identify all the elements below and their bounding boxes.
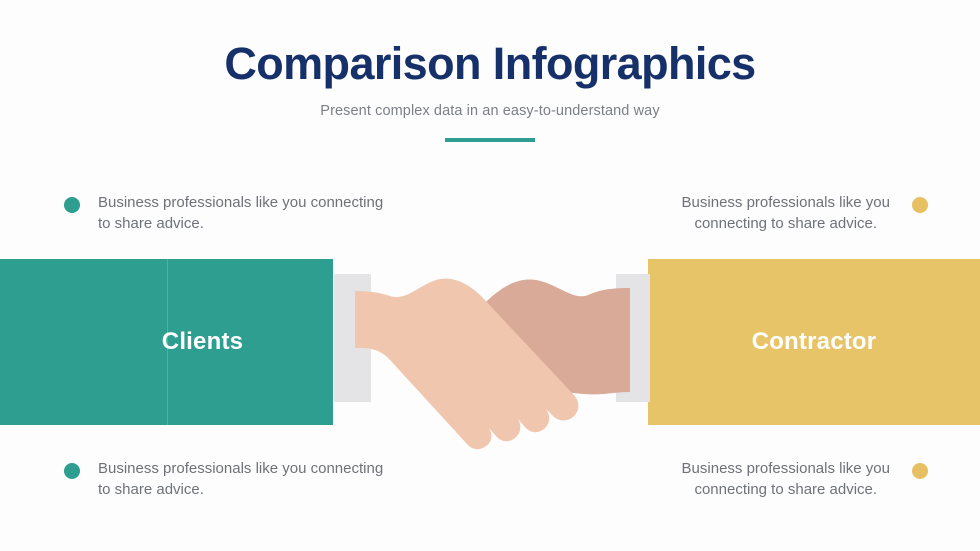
page-subtitle: Present complex data in an easy-to-under… xyxy=(0,101,980,121)
callout-text-bottom-right: Business professionals like you connecti… xyxy=(682,458,890,500)
comparison-label-left: Clients xyxy=(162,328,243,356)
callout-text-bottom-left: Business professionals like you connecti… xyxy=(98,458,383,500)
callout-bottom-left: Business professionals like you connecti… xyxy=(64,458,404,500)
comparison-bar-right[interactable]: Contractor xyxy=(648,259,980,425)
callout-bottom-right: Business professionals like you connecti… xyxy=(588,458,928,500)
comparison-bar-left[interactable]: Clients xyxy=(0,259,333,425)
page-title: Comparison Infographics xyxy=(0,38,980,90)
slide-header: Comparison Infographics Present complex … xyxy=(0,38,980,142)
callout-text-top-right: Business professionals like you connecti… xyxy=(682,192,890,234)
accent-rule-divider xyxy=(445,138,535,142)
bullet-dot-icon xyxy=(912,197,928,213)
comparison-label-right: Contractor xyxy=(752,328,877,356)
callout-top-right: Business professionals like you connecti… xyxy=(588,192,928,234)
callout-top-left: Business professionals like you connecti… xyxy=(64,192,404,234)
slide-canvas: Comparison Infographics Present complex … xyxy=(0,0,980,551)
bullet-dot-icon xyxy=(64,463,80,479)
bullet-dot-icon xyxy=(912,463,928,479)
callout-text-top-left: Business professionals like you connecti… xyxy=(98,192,383,234)
bullet-dot-icon xyxy=(64,197,80,213)
